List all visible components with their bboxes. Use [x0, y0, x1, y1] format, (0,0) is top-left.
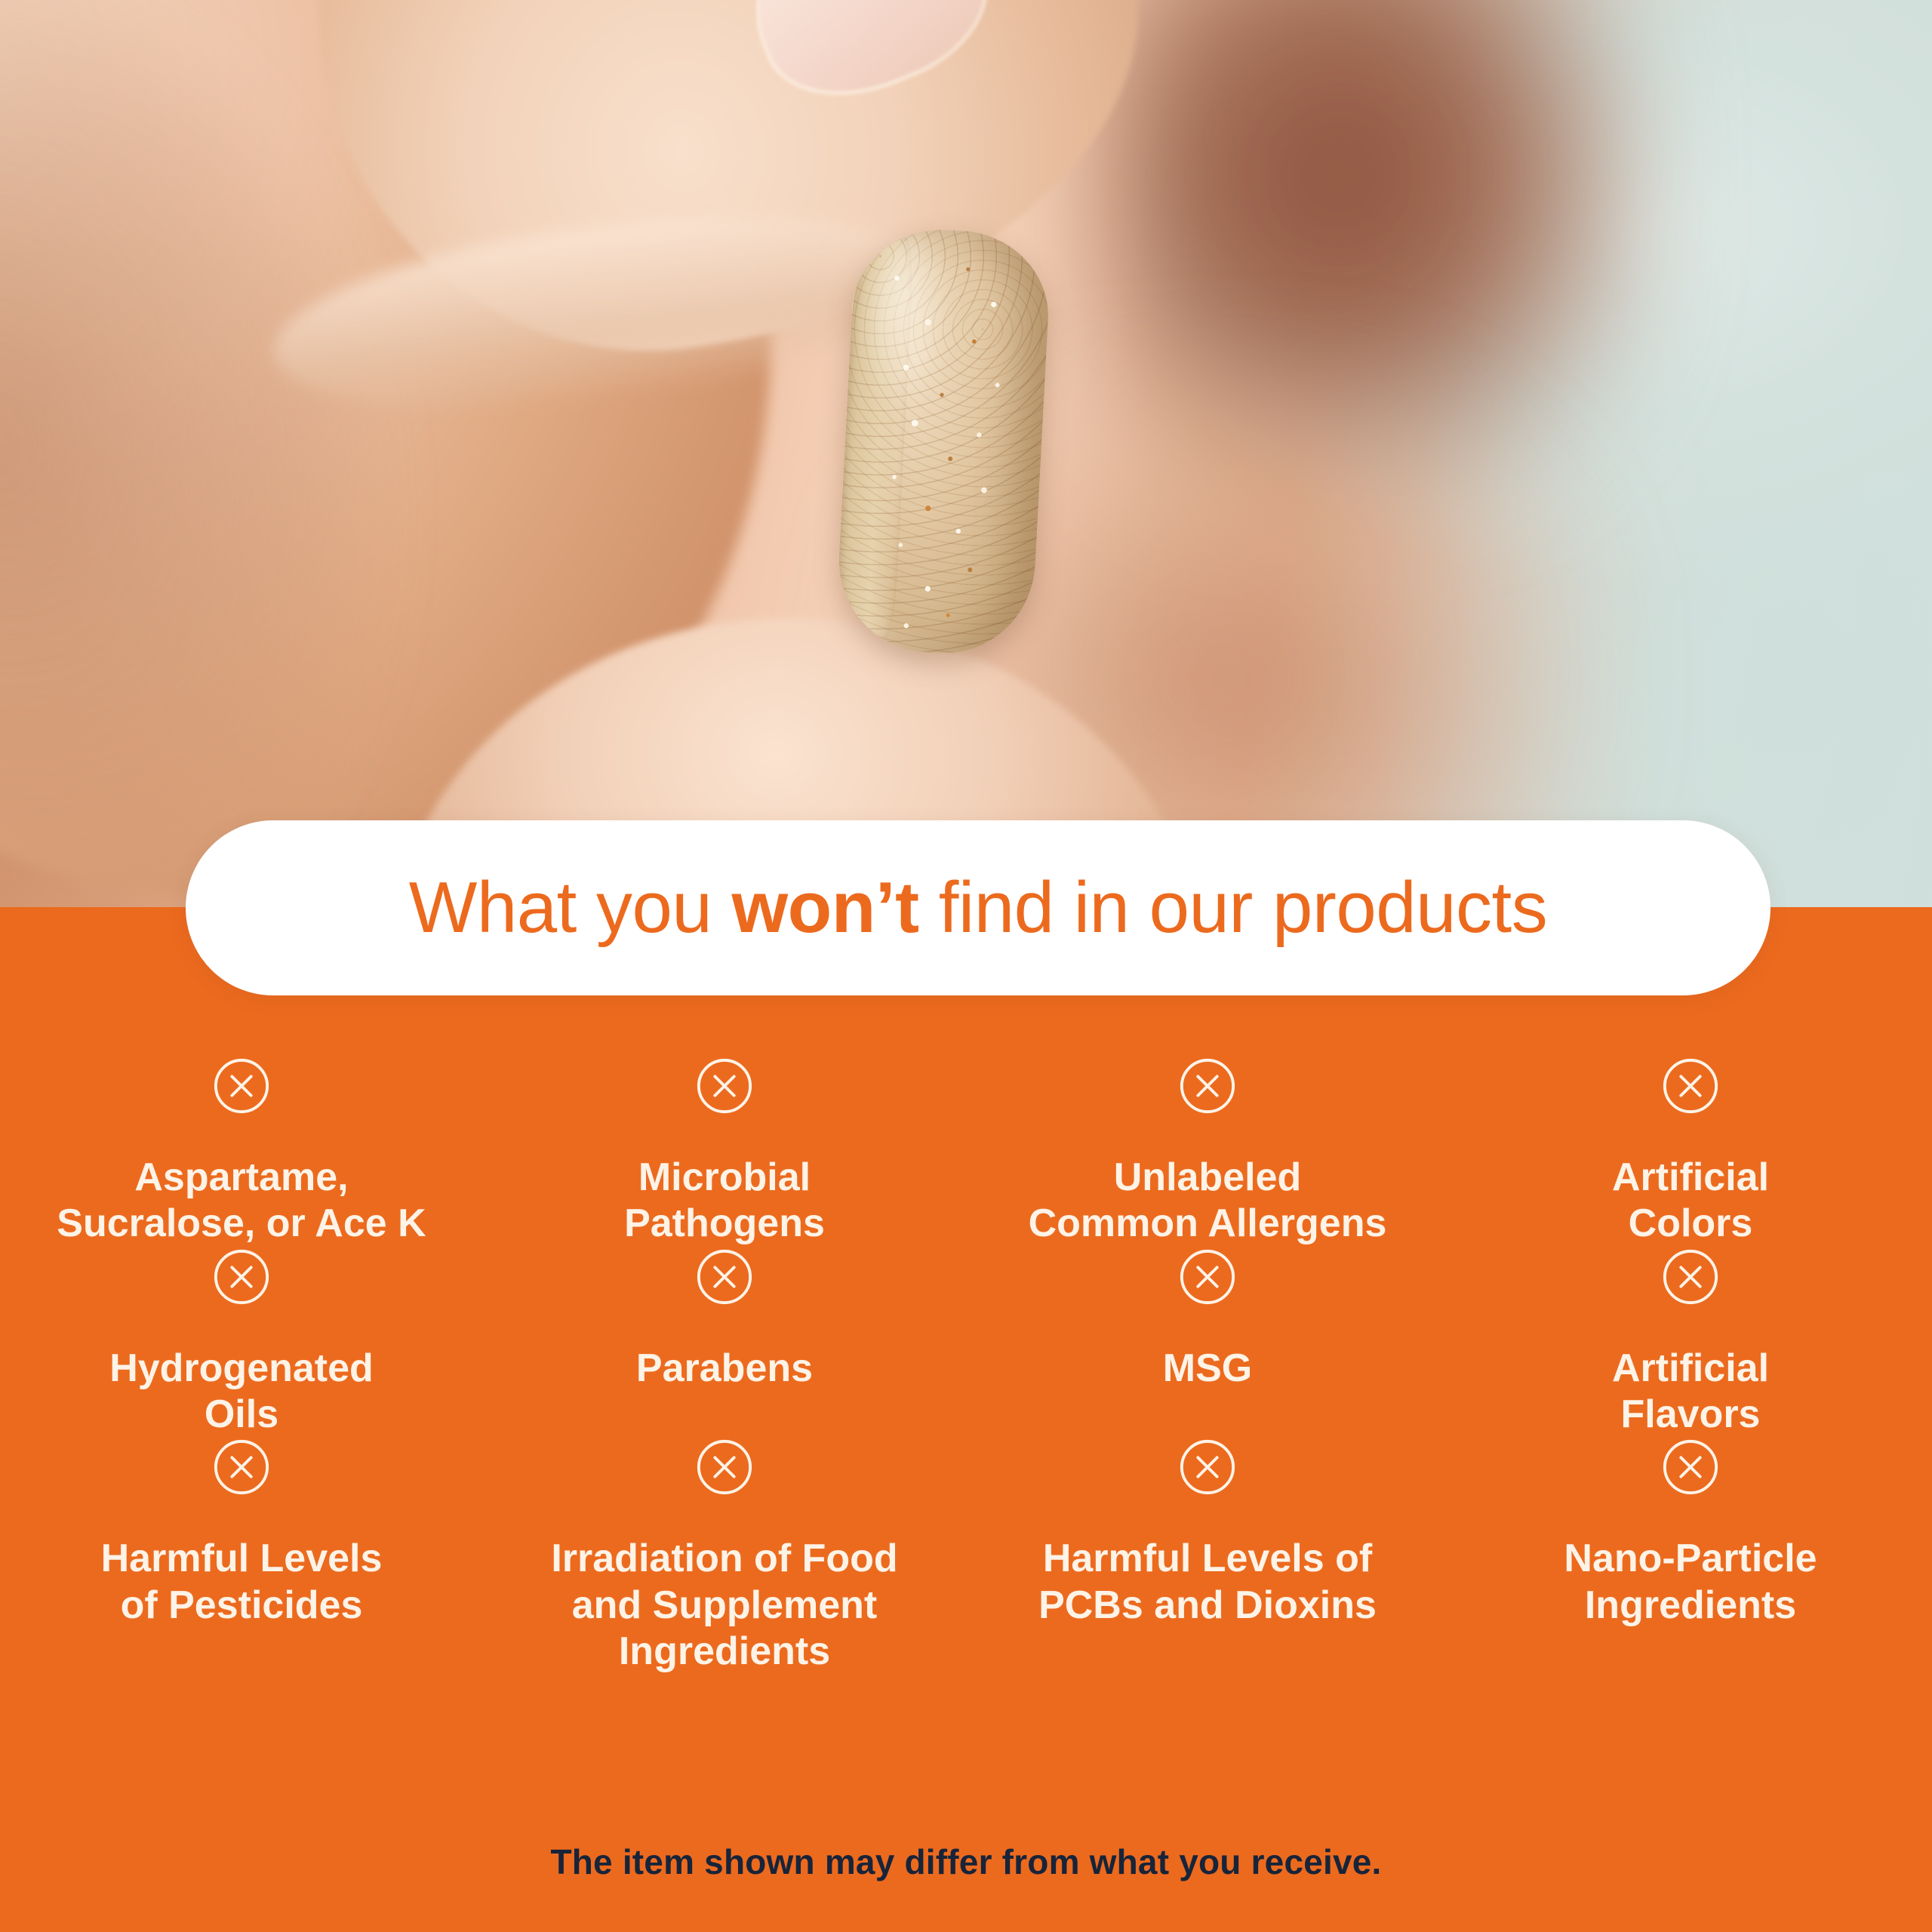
- circle-x-icon: [212, 1438, 271, 1497]
- product-claims-poster: What you won’t find in our products Aspa…: [0, 0, 1932, 1932]
- title-suffix: find in our products: [919, 867, 1548, 948]
- exclusion-label: Unlabeled Common Allergens: [1029, 1155, 1387, 1247]
- exclusion-label: Nano-Particle Ingredients: [1564, 1536, 1817, 1629]
- circle-x-icon: [212, 1247, 271, 1306]
- circle-x-icon: [212, 1057, 271, 1115]
- circle-x-icon: [695, 1247, 754, 1306]
- exclusion-item: Parabens: [483, 1247, 966, 1438]
- tablet-body: [835, 226, 1053, 658]
- exclusion-item: Aspartame, Sucralose, or Ace K: [0, 1057, 483, 1247]
- exclusion-item: Microbial Pathogens: [483, 1057, 966, 1247]
- circle-x-icon: [1178, 1438, 1237, 1497]
- circle-x-icon: [1178, 1247, 1237, 1306]
- product-photo: [0, 0, 1932, 913]
- exclusion-item: Hydrogenated Oils: [0, 1247, 483, 1438]
- exclusion-item: Harmful Levels of Pesticides: [0, 1438, 483, 1675]
- exclusion-label: Harmful Levels of PCBs and Dioxins: [1038, 1536, 1377, 1629]
- exclusion-label: Aspartame, Sucralose, or Ace K: [57, 1155, 426, 1247]
- supplement-tablet: [835, 226, 1053, 658]
- exclusion-item: Irradiation of Food and Supplement Ingre…: [483, 1438, 966, 1675]
- circle-x-icon: [1661, 1438, 1720, 1497]
- disclaimer-text: The item shown may differ from what you …: [0, 1841, 1932, 1882]
- exclusion-label: Harmful Levels of Pesticides: [101, 1536, 383, 1629]
- exclusion-label: Irradiation of Food and Supplement Ingre…: [551, 1536, 897, 1675]
- exclusion-label: Artificial Flavors: [1612, 1346, 1769, 1438]
- circle-x-icon: [1661, 1057, 1720, 1115]
- exclusion-item: Artificial Colors: [1449, 1057, 1932, 1247]
- exclusions-grid: Aspartame, Sucralose, or Ace K Microbial…: [0, 1057, 1932, 1675]
- exclusion-label: Parabens: [636, 1346, 813, 1392]
- circle-x-icon: [1178, 1057, 1237, 1115]
- exclusion-label: Hydrogenated Oils: [109, 1346, 374, 1438]
- exclusion-item: Artificial Flavors: [1449, 1247, 1932, 1438]
- title-prefix: What you: [409, 867, 732, 948]
- exclusion-label: MSG: [1163, 1346, 1252, 1392]
- exclusion-item: Unlabeled Common Allergens: [966, 1057, 1449, 1247]
- circle-x-icon: [695, 1057, 754, 1115]
- exclusion-item: Harmful Levels of PCBs and Dioxins: [966, 1438, 1449, 1675]
- page-title: What you won’t find in our products: [409, 872, 1547, 944]
- circle-x-icon: [1661, 1247, 1720, 1306]
- exclusion-item: Nano-Particle Ingredients: [1449, 1438, 1932, 1675]
- circle-x-icon: [695, 1438, 754, 1497]
- title-emphasis: won’t: [731, 867, 918, 948]
- exclusion-label: Artificial Colors: [1612, 1155, 1769, 1247]
- title-banner: What you won’t find in our products: [186, 820, 1770, 995]
- exclusion-label: Microbial Pathogens: [624, 1155, 825, 1247]
- exclusion-item: MSG: [966, 1247, 1449, 1438]
